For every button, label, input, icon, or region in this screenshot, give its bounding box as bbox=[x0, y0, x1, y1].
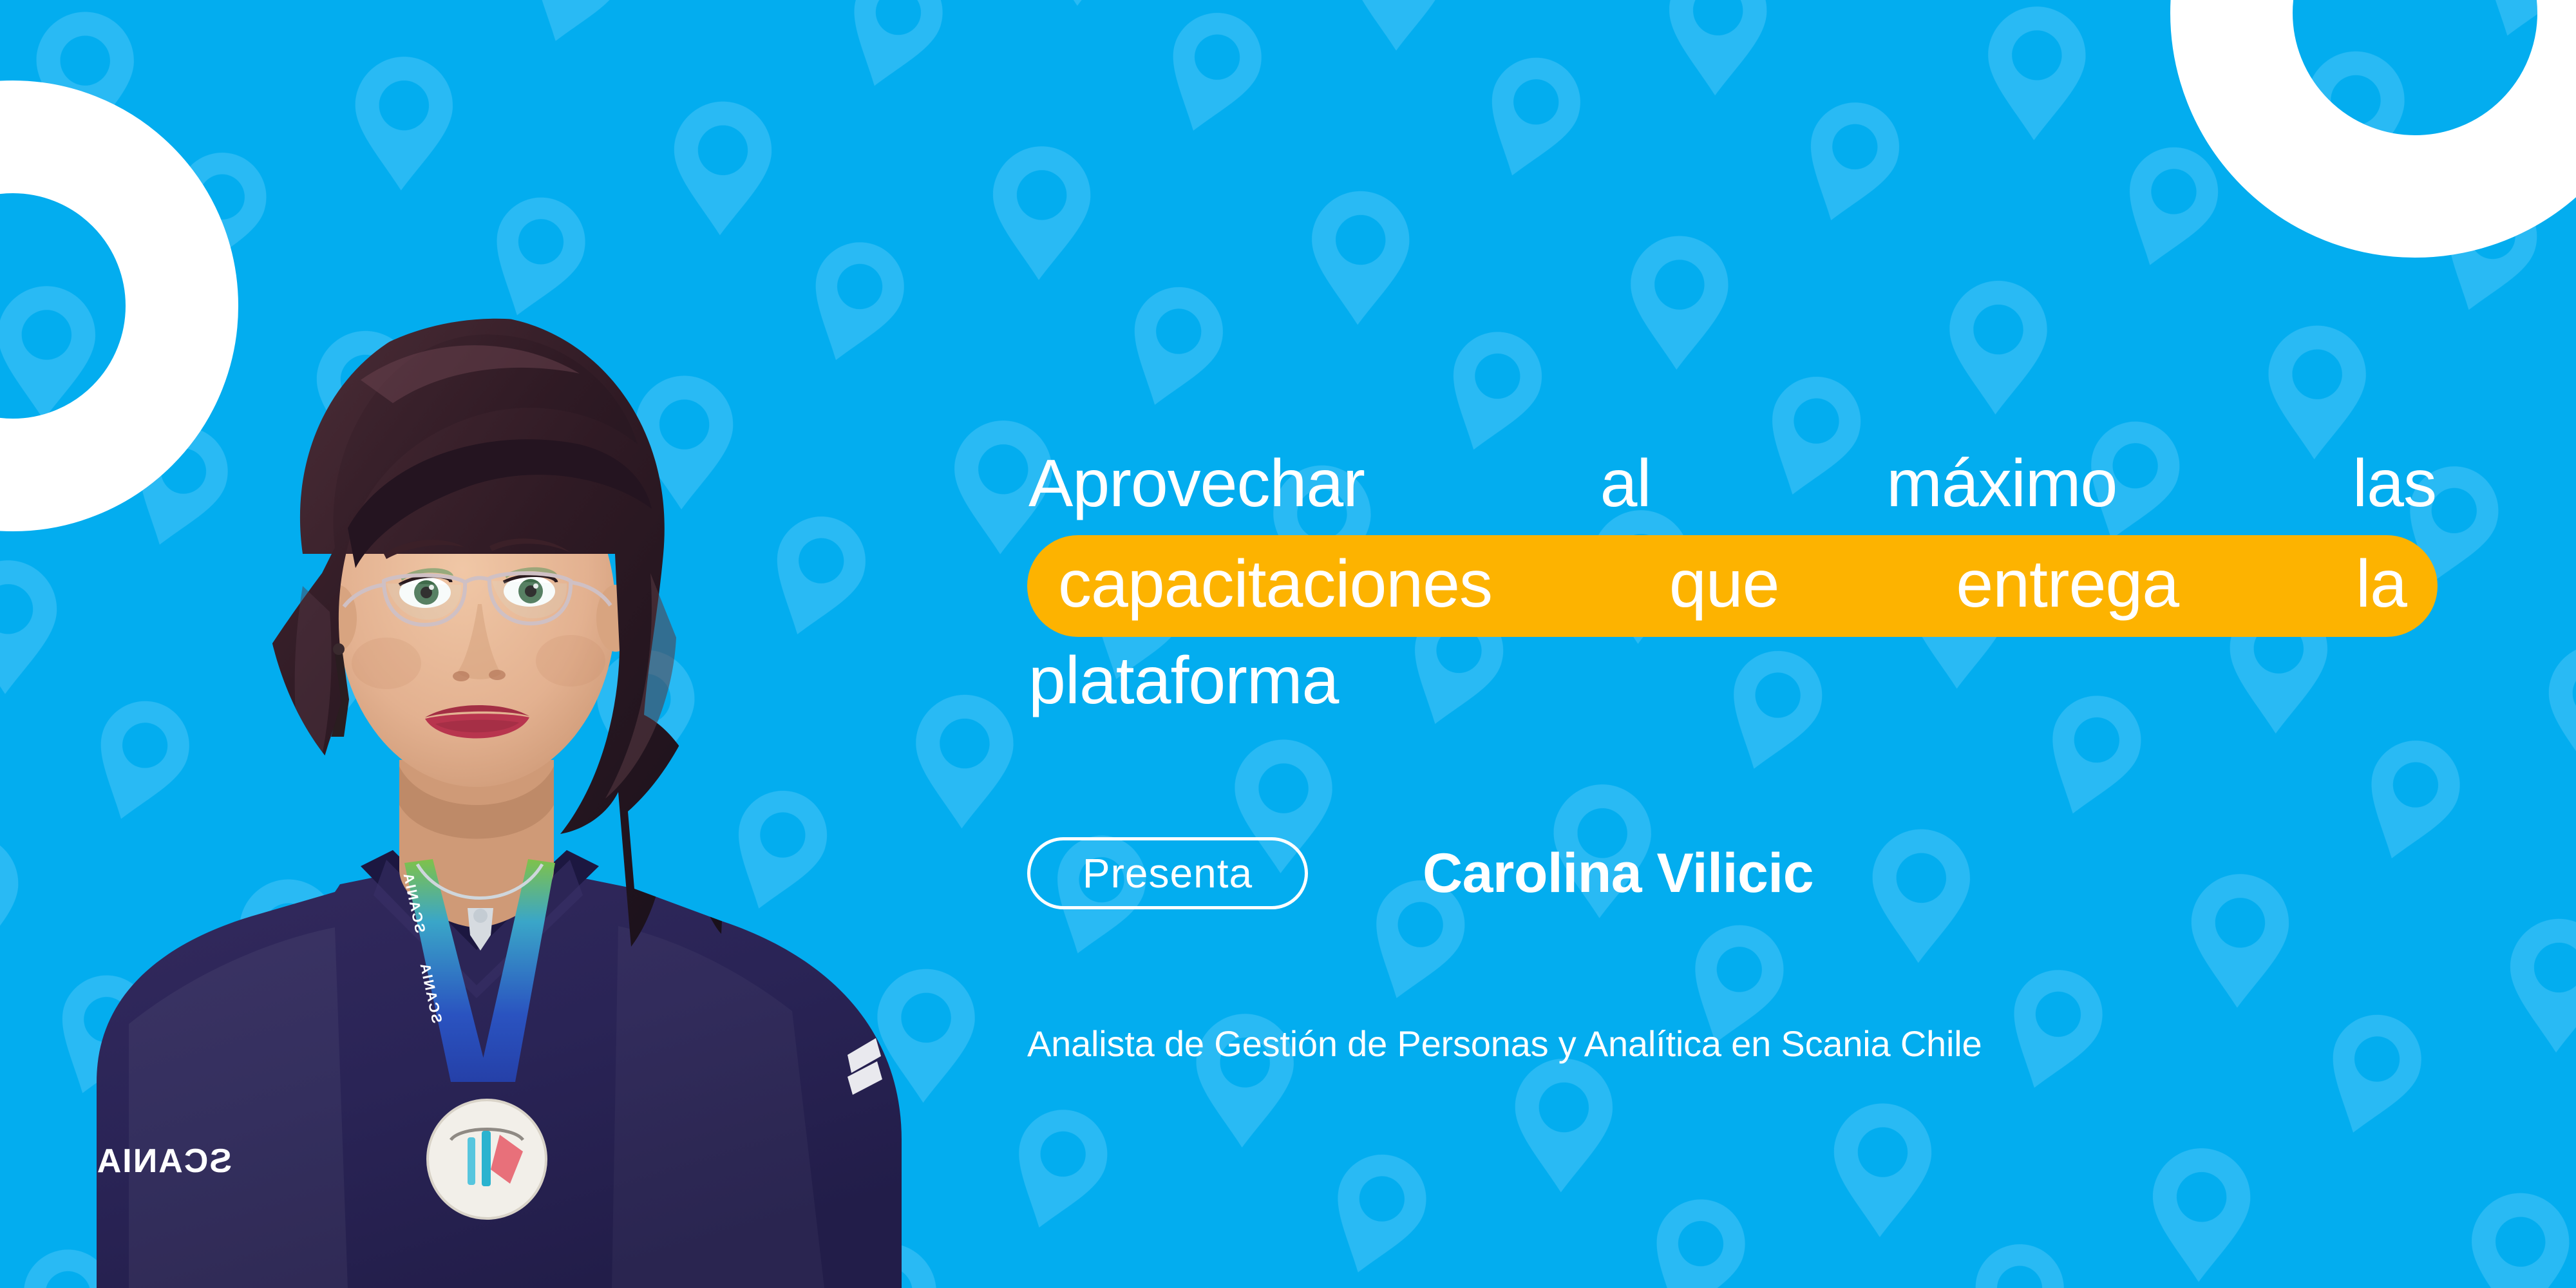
headline-line-1: Aprovechar al máximo las bbox=[1027, 441, 2438, 526]
svg-text:SCANIA: SCANIA bbox=[96, 1142, 232, 1180]
decorative-ring-left bbox=[0, 80, 238, 531]
headline-word: capacitaciones bbox=[1058, 551, 1492, 618]
headline-word: plataforma bbox=[1028, 647, 1338, 714]
headline-word: la bbox=[2356, 551, 2407, 618]
content-column: Aprovechar al máximo las capacitaciones … bbox=[1027, 0, 2476, 1288]
headline-word: al bbox=[1600, 450, 1651, 517]
headline-word: Aprovechar bbox=[1028, 450, 1365, 517]
headline-line-2-highlighted: capacitaciones que entrega la bbox=[1027, 535, 2438, 637]
headline-block: Aprovechar al máximo las capacitaciones … bbox=[1027, 441, 2438, 714]
presenter-role: Analista de Gestión de Personas y Analít… bbox=[1027, 1026, 1982, 1062]
svg-text:SCANIA: SCANIA bbox=[417, 961, 445, 1025]
headline-line-3: plataforma bbox=[1027, 647, 2438, 714]
headline-word: entrega bbox=[1956, 551, 2179, 618]
headline-word: máximo bbox=[1886, 450, 2117, 517]
headline-word: que bbox=[1669, 551, 1779, 618]
svg-text:SCANIA: SCANIA bbox=[400, 871, 428, 934]
presenter-name: Carolina Vilicic bbox=[1423, 846, 1814, 901]
promo-card: SCANIA SCANIA SCANIA bbox=[0, 0, 2576, 1288]
presenter-row: Presenta Carolina Vilicic bbox=[1027, 837, 1814, 909]
presenta-badge: Presenta bbox=[1027, 837, 1308, 909]
presenta-label: Presenta bbox=[1083, 853, 1253, 894]
headline-word: las bbox=[2353, 450, 2436, 517]
